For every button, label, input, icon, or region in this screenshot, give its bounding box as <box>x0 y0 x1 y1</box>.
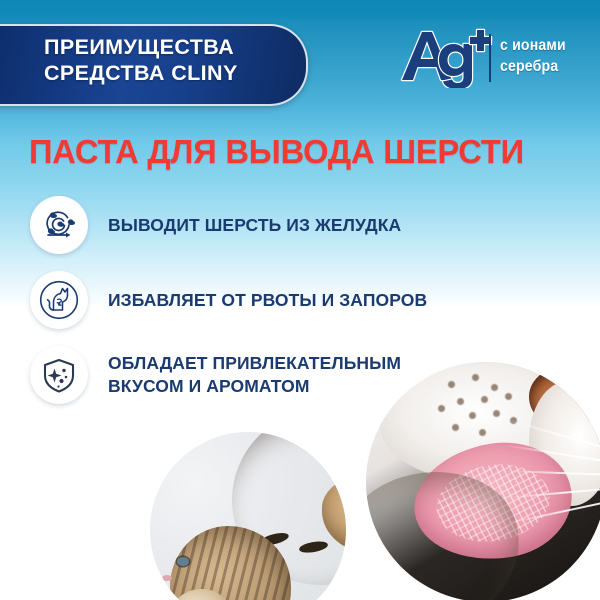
feature-item-hair-removal: ВЫВОДИТ ШЕРСТЬ ИЗ ЖЕЛУДКА <box>0 196 470 254</box>
banner-line-1: ПРЕИМУЩЕСТВА <box>44 34 314 60</box>
feature-label-line: ОБЛАДАЕТ ПРИВЛЕКАТЕЛЬНЫМ <box>108 352 401 375</box>
logo-caption-line-2: серебра <box>500 56 584 77</box>
feature-label-line: ВЫВОДИТ ШЕРСТЬ ИЗ ЖЕЛУДКА <box>108 214 401 237</box>
logo-divider <box>489 34 491 82</box>
feature-label-taste-aroma: ОБЛАДАЕТ ПРИВЛЕКАТЕЛЬНЫМ ВКУСОМ И АРОМАТ… <box>108 352 401 398</box>
shield-sparkle-icon <box>30 346 88 404</box>
logo-caption: с ионами серебра <box>500 35 584 77</box>
cat-digestion-icon <box>30 271 88 329</box>
feature-label-vomiting-constipation: ИЗБАВЛЯЕТ ОТ РВОТЫ И ЗАПОРОВ <box>108 289 427 312</box>
feature-label-hair-removal: ВЫВОДИТ ШЕРСТЬ ИЗ ЖЕЛУДКА <box>108 214 401 237</box>
advertisement-poster: ПРЕИМУЩЕСТВА СРЕДСТВА CLINY с ионами сер… <box>0 0 600 600</box>
header-banner-text: ПРЕИМУЩЕСТВА СРЕДСТВА CLINY <box>44 34 314 86</box>
photo-cat-tongue-closeup <box>366 362 600 600</box>
feature-label-line: ВКУСОМ И АРОМАТОМ <box>108 375 401 398</box>
banner-line-2: СРЕДСТВА CLINY <box>44 60 314 86</box>
page-title: ПАСТА ДЛЯ ВЫВОДА ШЕРСТИ <box>29 133 524 171</box>
feature-label-line: ИЗБАВЛЯЕТ ОТ РВОТЫ И ЗАПОРОВ <box>108 289 427 312</box>
silver-ions-logo-icon <box>398 26 498 88</box>
photo-cat-grooming-kitten <box>150 432 346 600</box>
hairball-circulation-icon <box>30 196 88 254</box>
feature-item-vomiting-constipation: ИЗБАВЛЯЕТ ОТ РВОТЫ И ЗАПОРОВ <box>0 271 470 329</box>
logo-caption-line-1: с ионами <box>500 35 584 56</box>
